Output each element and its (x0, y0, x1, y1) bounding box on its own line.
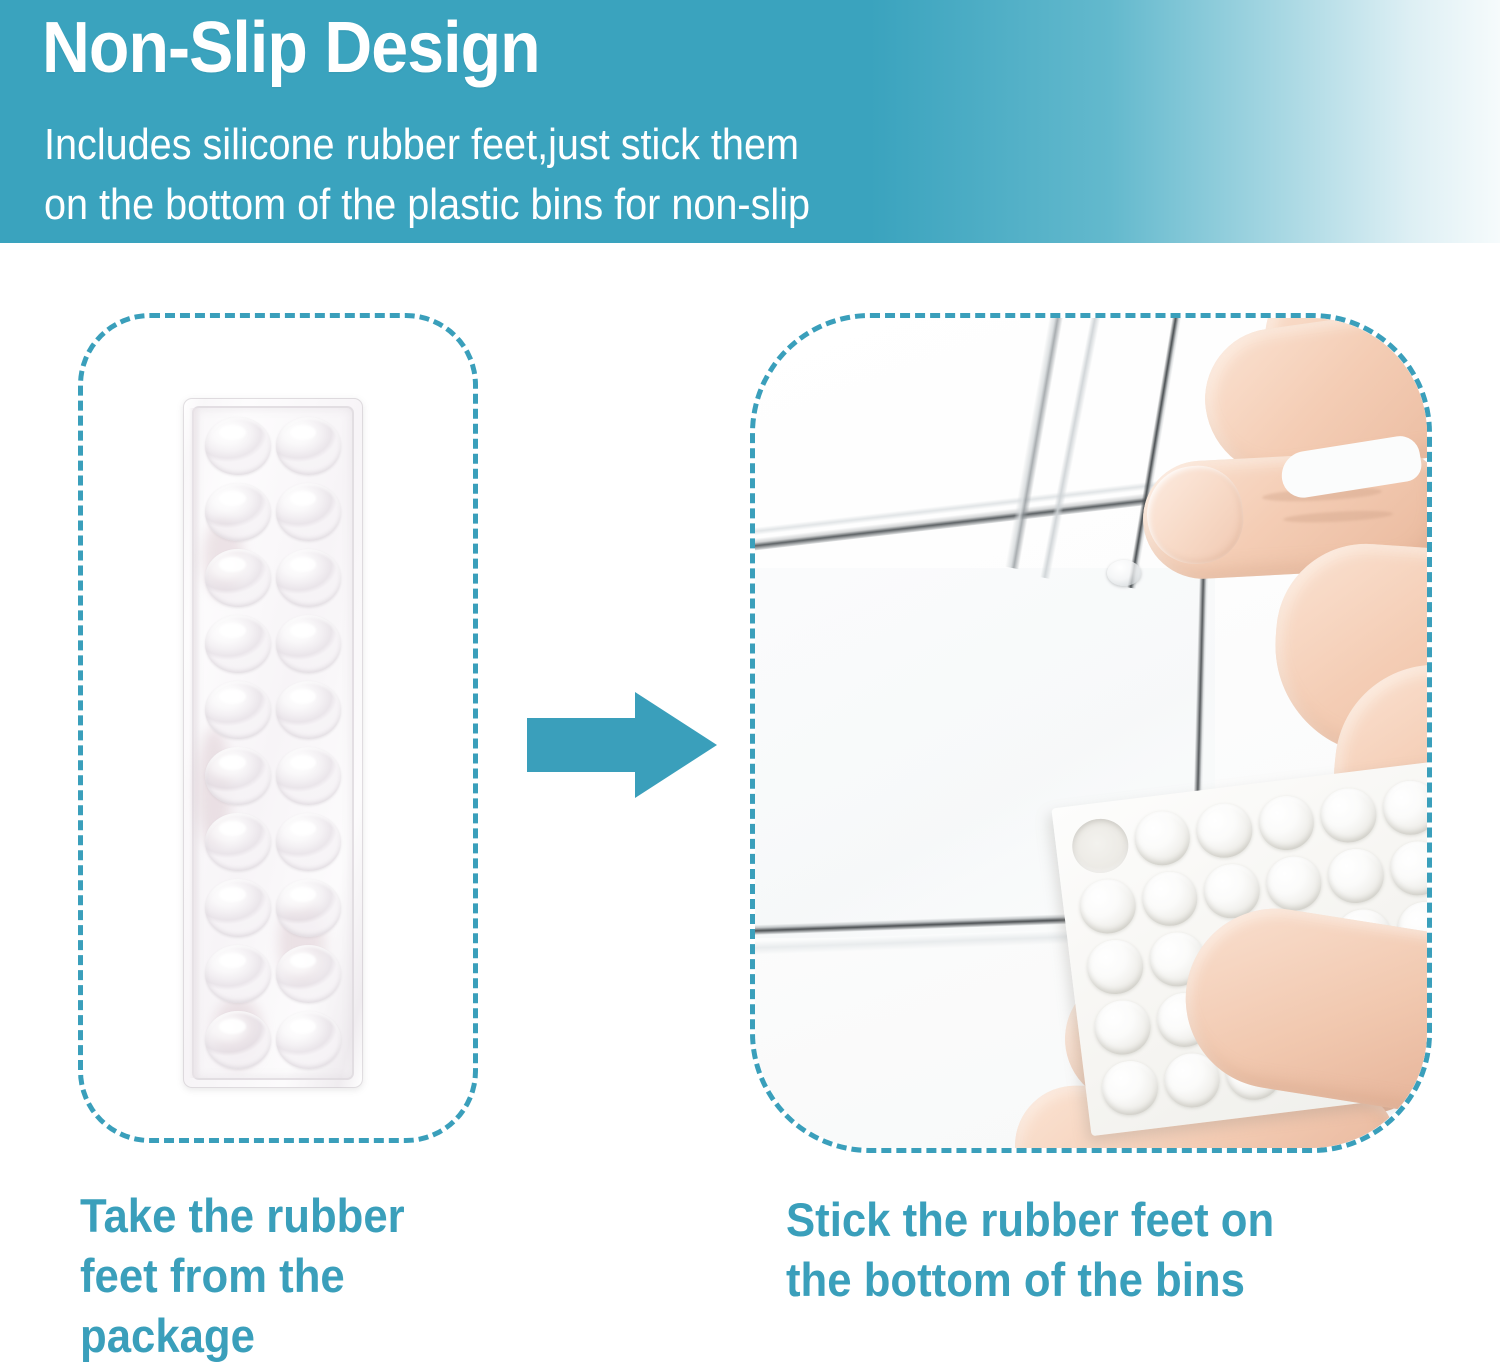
clear-bump (276, 681, 342, 739)
white-bump (1263, 853, 1325, 913)
white-bump (1099, 1058, 1161, 1118)
white-bump (1387, 838, 1427, 898)
caption-line-2: feet from the (80, 1246, 508, 1306)
clear-bump (276, 813, 342, 871)
white-bump (1092, 997, 1154, 1057)
white-bump (1193, 801, 1255, 861)
caption-line-1: Stick the rubber feet on (786, 1190, 1437, 1250)
clear-bump (276, 483, 342, 541)
white-bump-empty-slot (1069, 816, 1131, 876)
skin-crease (1283, 509, 1393, 525)
clear-bump (205, 879, 271, 937)
clear-bump (205, 1011, 271, 1069)
clear-bump (205, 681, 271, 739)
clear-bump (205, 549, 271, 607)
blister-package-photo (183, 398, 363, 1088)
pressing-hand (1085, 318, 1427, 808)
clear-bump (276, 615, 342, 673)
white-bump (1084, 937, 1146, 997)
clear-bump-grid (203, 414, 343, 1072)
white-bump (1139, 869, 1201, 929)
left-panel-caption: Take the rubber feet from the package (80, 1186, 508, 1366)
clear-bump (276, 417, 342, 475)
white-bump (1131, 808, 1193, 868)
flow-arrow (527, 690, 717, 800)
placed-clear-bump (1107, 560, 1141, 586)
arrow-right-icon (527, 690, 717, 800)
clear-bump (205, 483, 271, 541)
clear-bump (205, 945, 271, 1003)
clear-bump (276, 1011, 342, 1069)
white-bump (1077, 876, 1139, 936)
white-bump (1379, 778, 1427, 838)
white-bump (1255, 793, 1317, 853)
clear-bump (205, 813, 271, 871)
white-bump (1317, 785, 1379, 845)
clear-bump (276, 747, 342, 805)
header-subtitle: Includes silicone rubber feet,just stick… (44, 115, 810, 235)
clear-bump (205, 417, 271, 475)
caption-line-2: the bottom of the bins (786, 1250, 1437, 1310)
right-panel-caption: Stick the rubber feet on the bottom of t… (786, 1190, 1437, 1310)
clear-bump (276, 549, 342, 607)
subtitle-line-2: on the bottom of the plastic bins for no… (44, 175, 810, 235)
page-title: Non-Slip Design (42, 12, 540, 84)
white-bump (1325, 846, 1387, 906)
clear-bump (205, 747, 271, 805)
subtitle-line-1: Includes silicone rubber feet,just stick… (44, 115, 810, 175)
header-banner: Non-Slip Design Includes silicone rubber… (0, 0, 1500, 243)
caption-line-3: package (80, 1306, 508, 1366)
clear-bump (276, 879, 342, 937)
clear-bump (205, 615, 271, 673)
caption-line-1: Take the rubber (80, 1186, 508, 1246)
clear-bump (276, 945, 342, 1003)
